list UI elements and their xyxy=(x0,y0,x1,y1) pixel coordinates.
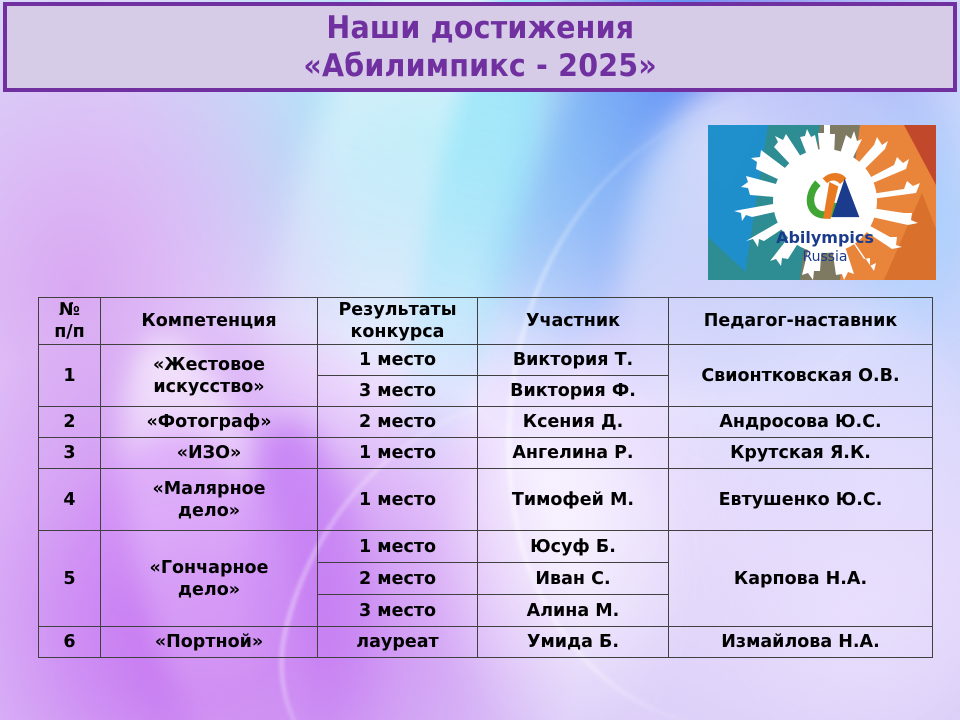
table-header-row: № п/п Компетенция Результаты конкурса Уч… xyxy=(39,298,933,345)
cell-competence-line1: «Жестовое xyxy=(104,354,314,376)
cell-number: 1 xyxy=(39,345,101,407)
cell-participant: Виктория Ф. xyxy=(478,376,669,407)
cell-competence-line1: «Гончарное xyxy=(104,557,314,579)
column-header-number: № п/п xyxy=(39,298,101,345)
logo-wordmark-primary: Abilympics xyxy=(776,228,874,247)
cell-teacher: Свионтковская О.В. xyxy=(669,345,933,407)
cell-teacher: Евтушенко Ю.С. xyxy=(669,469,933,531)
cell-teacher: Карпова Н.А. xyxy=(669,531,933,627)
table-row: 4 «Малярное дело» 1 место Тимофей М. Евт… xyxy=(39,469,933,531)
cell-participant: Иван С. xyxy=(478,563,669,595)
cell-participant: Алина М. xyxy=(478,595,669,627)
column-header-number-bottom: п/п xyxy=(42,321,97,343)
cell-competence: «Жестовое искусство» xyxy=(101,345,318,407)
cell-number: 2 xyxy=(39,407,101,438)
cell-participant: Тимофей М. xyxy=(478,469,669,531)
cell-competence: «Малярное дело» xyxy=(101,469,318,531)
cell-result: 3 место xyxy=(318,595,478,627)
cell-result: 1 место xyxy=(318,531,478,563)
cell-competence-line1: «Малярное xyxy=(104,478,314,500)
logo-wordmark-secondary: Russia xyxy=(802,249,847,265)
cell-result: 3 место xyxy=(318,376,478,407)
cell-result: 1 место xyxy=(318,438,478,469)
cell-teacher: Крутская Я.К. xyxy=(669,438,933,469)
cell-participant: Ангелина Р. xyxy=(478,438,669,469)
cell-competence: «Фотограф» xyxy=(101,407,318,438)
cell-number: 4 xyxy=(39,469,101,531)
cell-competence: «Гончарное дело» xyxy=(101,531,318,627)
cell-teacher: Измайлова Н.А. xyxy=(669,627,933,658)
column-header-competence: Компетенция xyxy=(101,298,318,345)
table-row: 6 «Портной» лауреат Умида Б. Измайлова Н… xyxy=(39,627,933,658)
column-header-teacher: Педагог-наставник xyxy=(669,298,933,345)
cell-competence-line2: дело» xyxy=(104,500,314,522)
table-row: 2 «Фотограф» 2 место Ксения Д. Андросова… xyxy=(39,407,933,438)
cell-participant: Виктория Т. xyxy=(478,345,669,376)
table-row: 5 «Гончарное дело» 1 место Юсуф Б. Карпо… xyxy=(39,531,933,563)
title-banner: Наши достижения «Абилимпикс - 2025» xyxy=(3,2,957,92)
cell-competence: «Портной» xyxy=(101,627,318,658)
table-row: 3 «ИЗО» 1 место Ангелина Р. Крутская Я.К… xyxy=(39,438,933,469)
cell-result: 2 место xyxy=(318,563,478,595)
column-header-number-top: № xyxy=(42,299,97,321)
column-header-results-bottom: конкурса xyxy=(321,321,474,343)
page-title-line2: «Абилимпикс - 2025» xyxy=(303,47,657,85)
cell-competence-line2: искусство» xyxy=(104,376,314,398)
table-row: 1 «Жестовое искусство» 1 место Виктория … xyxy=(39,345,933,376)
slide-canvas: Наши достижения «Абилимпикс - 2025» xyxy=(0,0,960,720)
table-body: 1 «Жестовое искусство» 1 место Виктория … xyxy=(39,345,933,658)
abilympics-russia-logo: Abilympics Russia xyxy=(708,125,936,280)
cell-number: 3 xyxy=(39,438,101,469)
cell-result: 1 место xyxy=(318,345,478,376)
column-header-results: Результаты конкурса xyxy=(318,298,478,345)
cell-participant: Юсуф Б. xyxy=(478,531,669,563)
cell-number: 6 xyxy=(39,627,101,658)
achievements-table: № п/п Компетенция Результаты конкурса Уч… xyxy=(38,297,933,658)
cell-competence-line2: дело» xyxy=(104,579,314,601)
cell-result: 1 место xyxy=(318,469,478,531)
cell-result: 2 место xyxy=(318,407,478,438)
cell-teacher: Андросова Ю.С. xyxy=(669,407,933,438)
cell-number: 5 xyxy=(39,531,101,627)
cell-result: лауреат xyxy=(318,627,478,658)
cell-competence: «ИЗО» xyxy=(101,438,318,469)
page-title-line1: Наши достижения xyxy=(326,9,634,47)
column-header-results-top: Результаты xyxy=(321,299,474,321)
column-header-participant: Участник xyxy=(478,298,669,345)
cell-participant: Умида Б. xyxy=(478,627,669,658)
cell-participant: Ксения Д. xyxy=(478,407,669,438)
